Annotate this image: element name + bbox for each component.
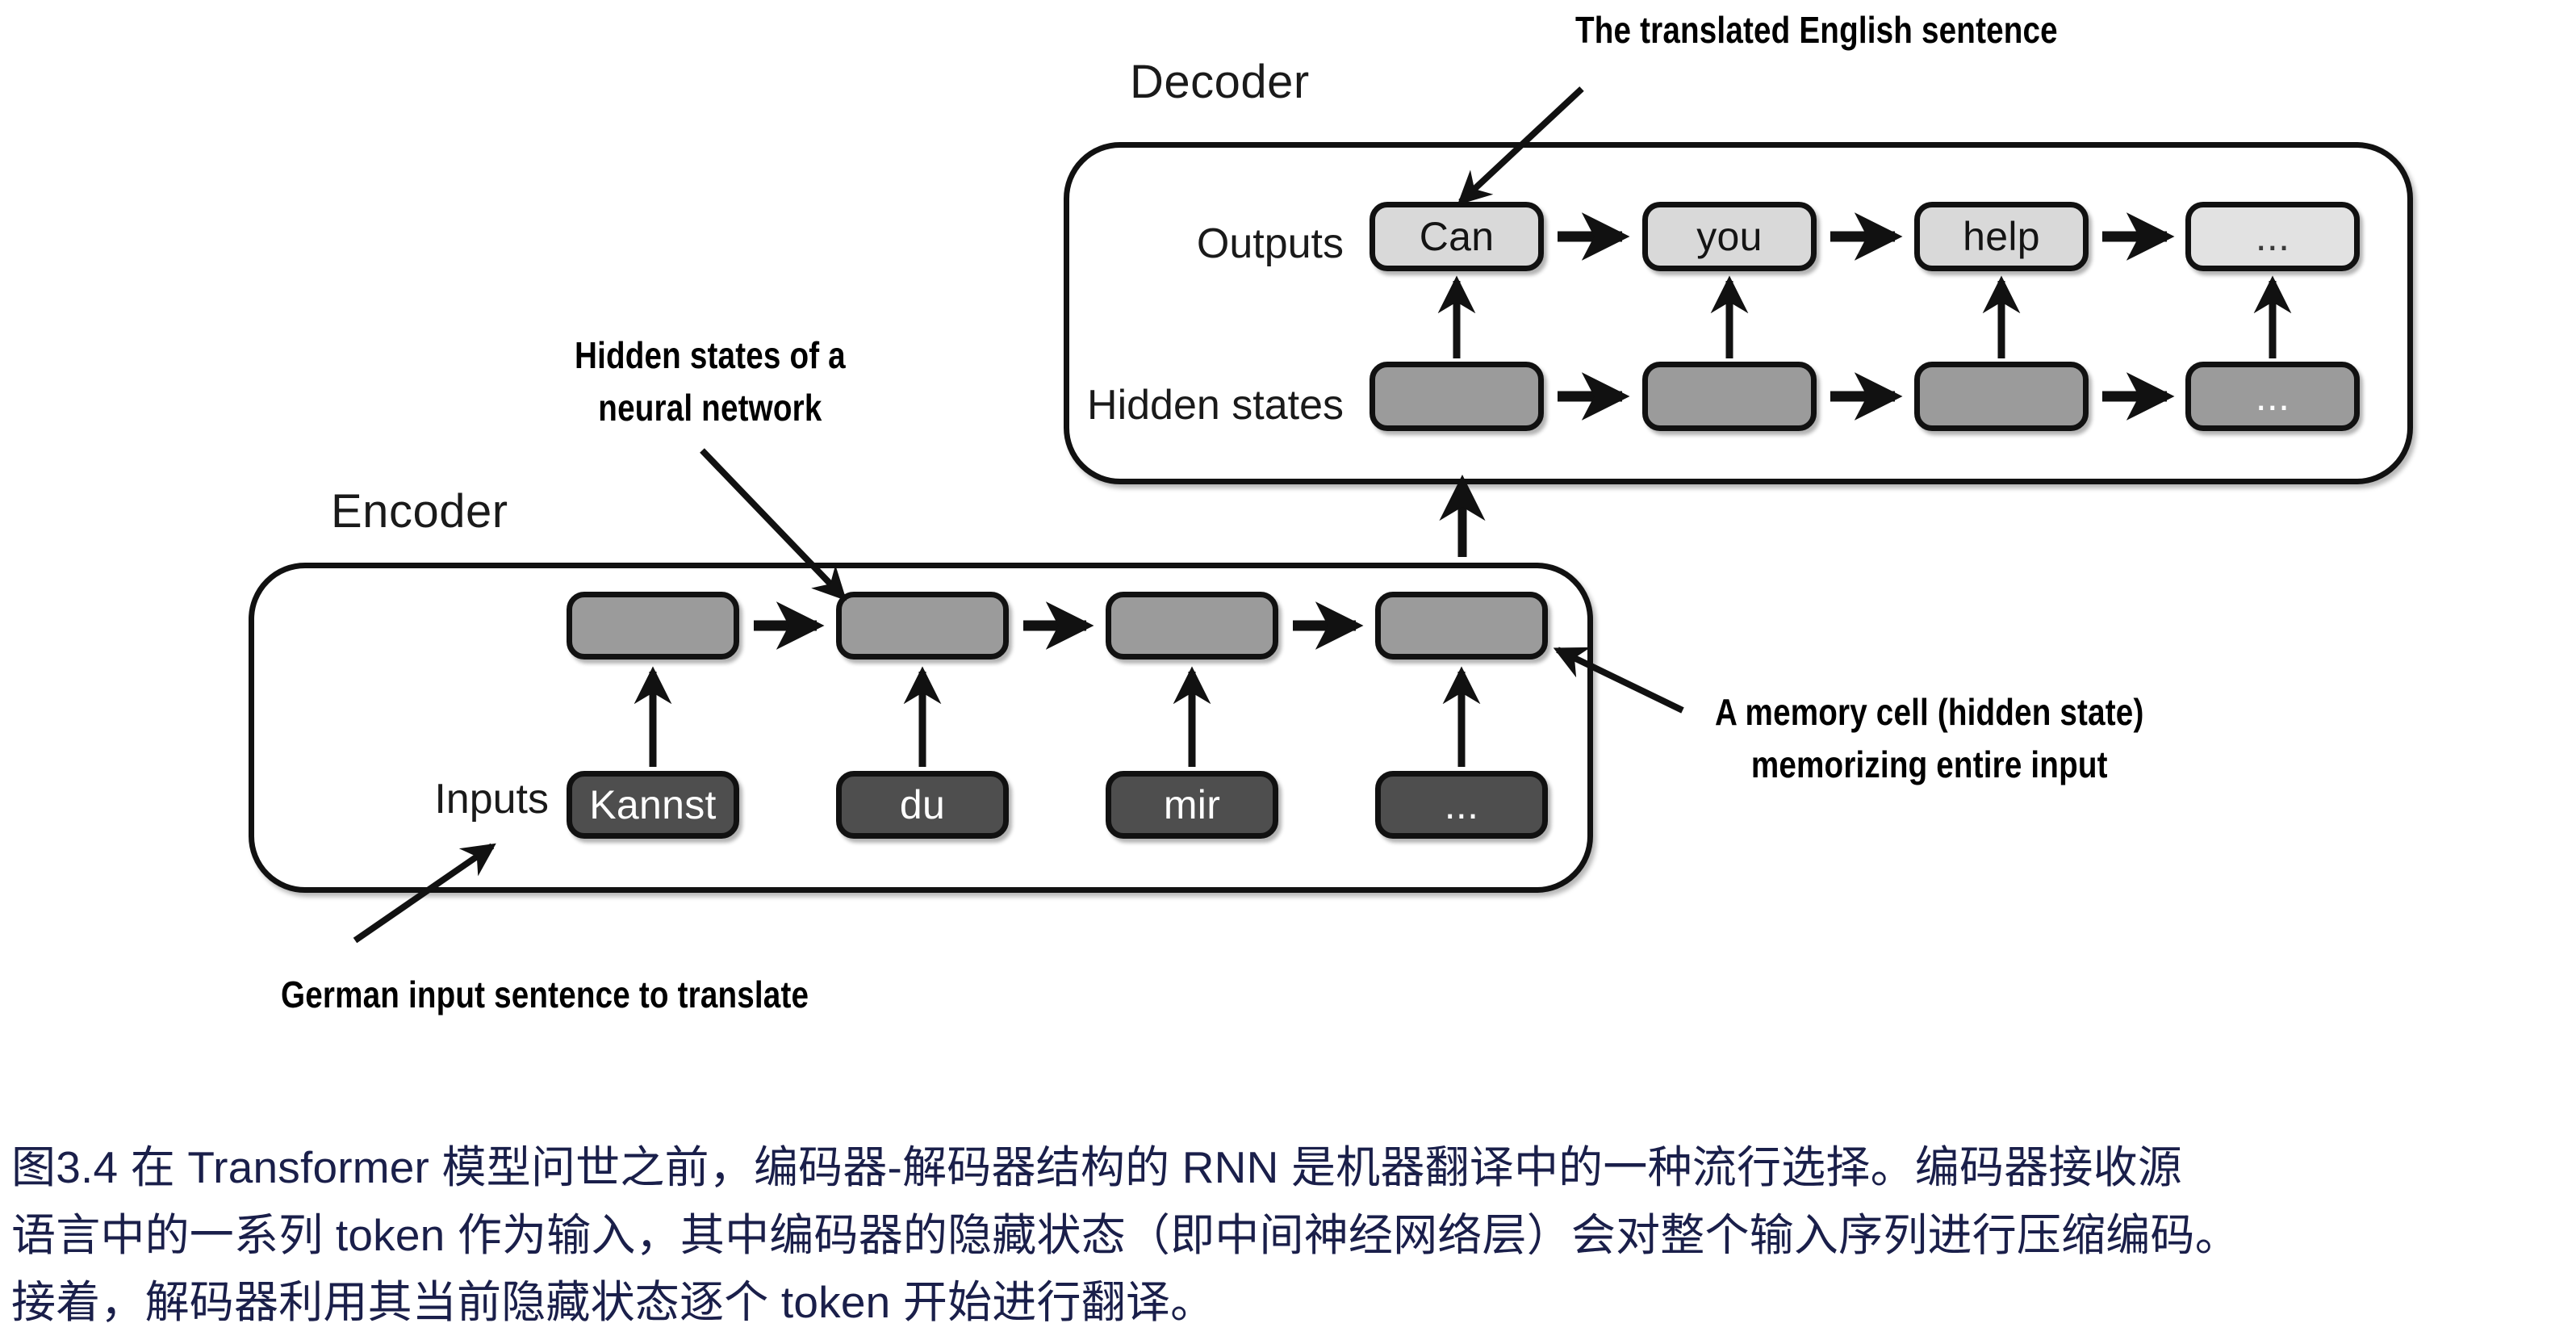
encoder-hidden-cell-2[interactable]: [836, 592, 1009, 660]
decoder-hidden-cell-2[interactable]: [1642, 362, 1817, 431]
decoder-container: [1064, 142, 2413, 484]
figure-canvas: Decoder Outputs Hidden states Can you he…: [0, 0, 2576, 1340]
encoder-hidden-cell-3[interactable]: [1106, 592, 1278, 660]
decoder-output-cell-1[interactable]: Can: [1370, 202, 1544, 271]
decoder-hidden-cell-4[interactable]: ...: [2185, 362, 2360, 431]
annotation-hidden-states: Hidden states of a neural network: [575, 329, 846, 435]
encoder-hidden-cell-1[interactable]: [567, 592, 739, 660]
decoder-hidden-cell-3[interactable]: [1914, 362, 2089, 431]
caption-line-1: 图3.4 在 Transformer 模型问世之前，编码器-解码器结构的 RNN…: [11, 1134, 2570, 1202]
encoder-hidden-cell-4[interactable]: [1375, 592, 1548, 660]
annotation-hidden-states-line1: Hidden states of a: [575, 329, 846, 382]
annotation-translated-sentence: The translated English sentence: [1575, 4, 2058, 57]
encoder-input-cell-2[interactable]: du: [836, 771, 1009, 839]
caption-line-3: 接着，解码器利用其当前隐藏状态逐个 token 开始进行翻译。: [11, 1269, 2570, 1337]
decoder-output-cell-4[interactable]: ...: [2185, 202, 2360, 271]
decoder-output-cell-2[interactable]: you: [1642, 202, 1817, 271]
caption-line-2: 语言中的一系列 token 作为输入，其中编码器的隐藏状态（即中间神经网络层）会…: [11, 1202, 2570, 1270]
annotation-memory-cell: A memory cell (hidden state) memorizing …: [1715, 686, 2143, 792]
encoder-input-cell-1[interactable]: Kannst: [567, 771, 739, 839]
annotation-hidden-states-line2: neural network: [575, 382, 846, 434]
annotation-memory-cell-line1: A memory cell (hidden state): [1715, 686, 2143, 739]
annotation-german-input: German input sentence to translate: [281, 969, 809, 1021]
encoder-title: Encoder: [331, 484, 508, 538]
outputs-row-label: Outputs: [940, 220, 1344, 268]
decoder-title: Decoder: [1130, 55, 1310, 109]
figure-caption: 图3.4 在 Transformer 模型问世之前，编码器-解码器结构的 RNN…: [11, 1134, 2570, 1337]
decoder-hidden-cell-1[interactable]: [1370, 362, 1544, 431]
inputs-row-label: Inputs: [145, 775, 549, 823]
annotation-memory-cell-line2: memorizing entire input: [1715, 739, 2143, 791]
decoder-hidden-states-row-label: Hidden states: [940, 381, 1344, 429]
encoder-input-cell-3[interactable]: mir: [1106, 771, 1278, 839]
decoder-output-cell-3[interactable]: help: [1914, 202, 2089, 271]
encoder-input-cell-4[interactable]: ...: [1375, 771, 1548, 839]
